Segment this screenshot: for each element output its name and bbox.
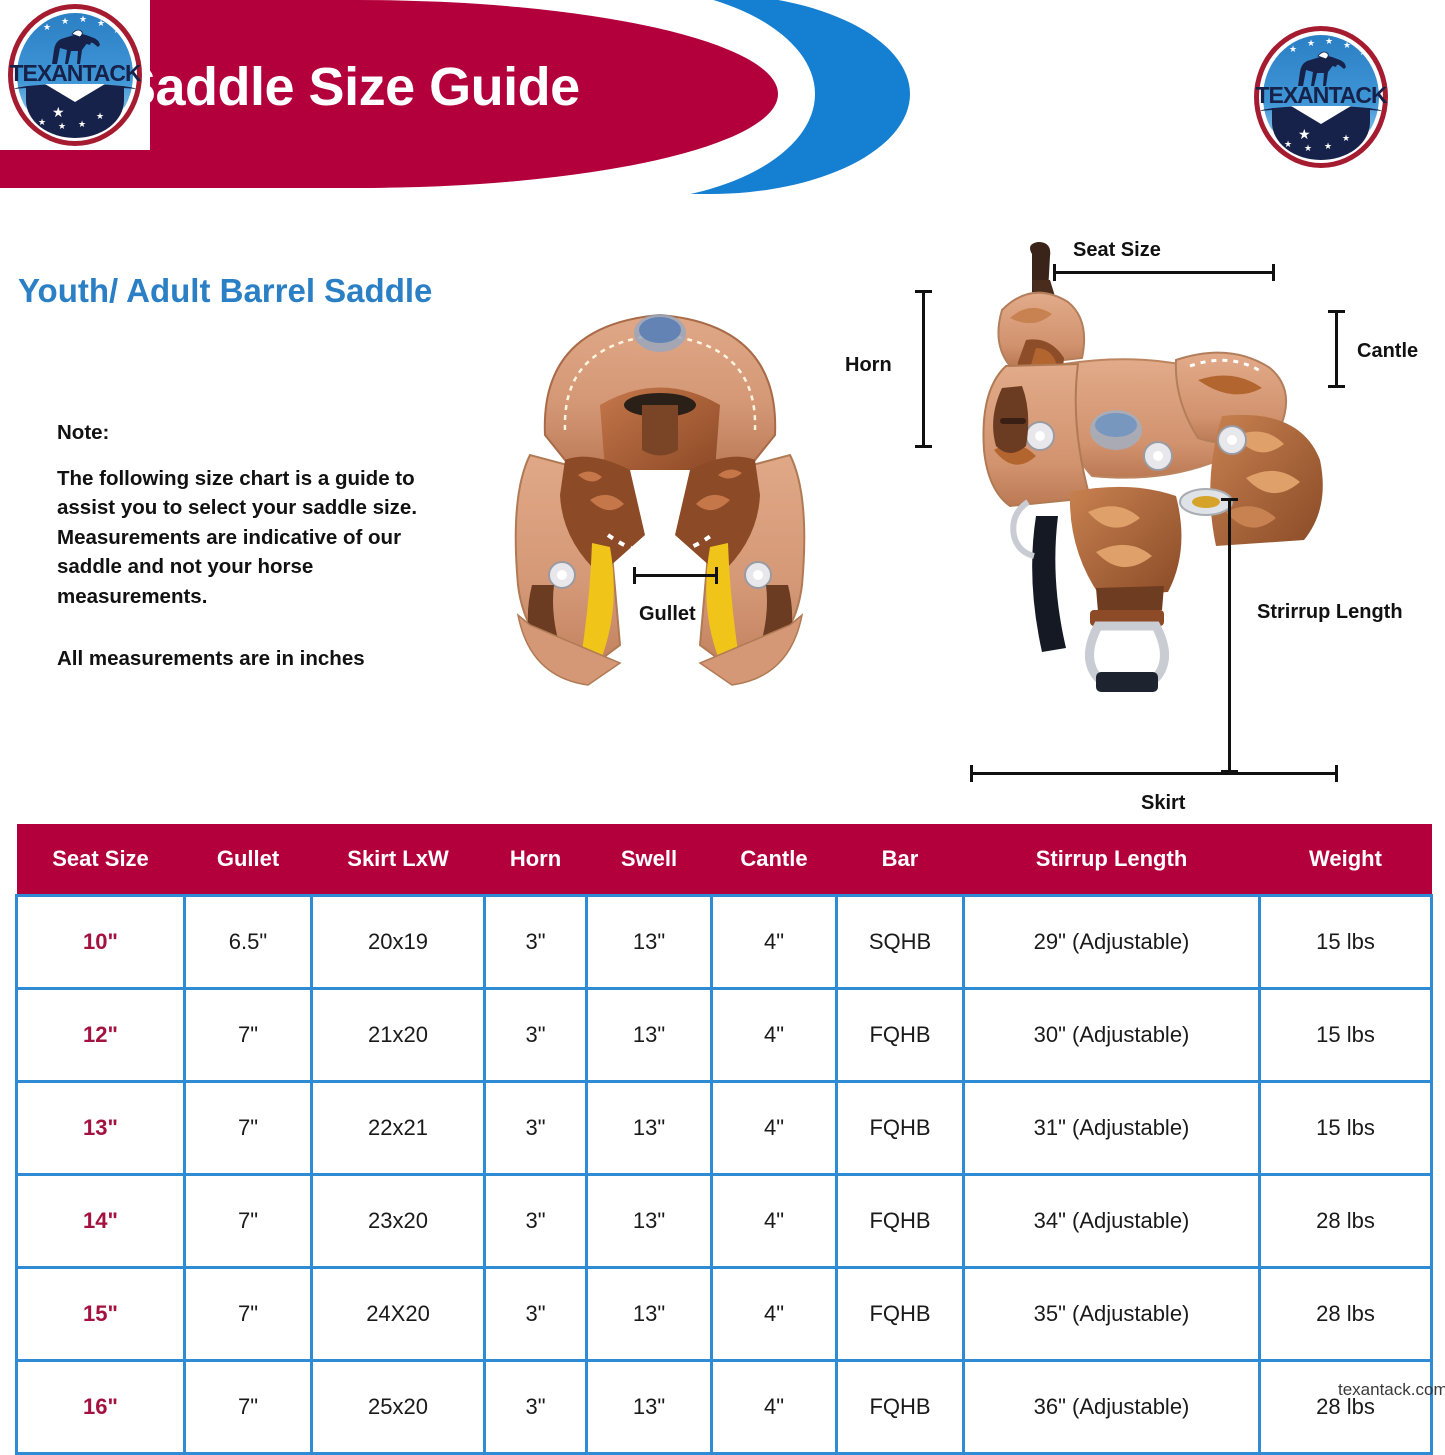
page-header: Saddle Size Guide (0, 0, 1445, 200)
cell-weight: 28 lbs (1260, 1268, 1432, 1361)
cell-skirt: 23x20 (312, 1175, 485, 1268)
cell-skirt: 24X20 (312, 1268, 485, 1361)
gullet-measure-line (633, 574, 718, 577)
cell-swell: 13" (587, 896, 712, 989)
column-header-swell: Swell (587, 824, 712, 896)
cell-swell: 13" (587, 1082, 712, 1175)
skirt-cap-right (1335, 765, 1338, 782)
cell-swell: 13" (587, 1175, 712, 1268)
column-header-horn: Horn (485, 824, 587, 896)
horn-cap-top (915, 290, 932, 293)
site-watermark: texantack.com (1338, 1380, 1445, 1400)
cell-weight: 15 lbs (1260, 1082, 1432, 1175)
note-label: Note: (57, 418, 447, 448)
size-chart-table: Seat Size Gullet Skirt LxW Horn Swell Ca… (15, 824, 1433, 1455)
cell-seat-size: 14" (17, 1175, 185, 1268)
cell-horn: 3" (485, 989, 587, 1082)
cell-bar: SQHB (837, 896, 964, 989)
cell-skirt: 21x20 (312, 989, 485, 1082)
cell-bar: FQHB (837, 1268, 964, 1361)
cell-stirrup: 36" (Adjustable) (964, 1361, 1260, 1454)
logo-wordmark: TEXANTACK (0, 60, 150, 87)
seat-size-measure-line (1053, 271, 1275, 274)
cantle-cap-top (1328, 310, 1345, 313)
cell-gullet: 7" (185, 1361, 312, 1454)
cell-skirt: 25x20 (312, 1361, 485, 1454)
cell-swell: 13" (587, 1268, 712, 1361)
cell-cantle: 4" (712, 1268, 837, 1361)
cell-stirrup: 34" (Adjustable) (964, 1175, 1260, 1268)
cell-bar: FQHB (837, 989, 964, 1082)
table-row: 16" 7" 25x20 3" 13" 4" FQHB 36" (Adjusta… (17, 1361, 1432, 1454)
cell-stirrup: 29" (Adjustable) (964, 896, 1260, 989)
cell-gullet: 7" (185, 1082, 312, 1175)
section-subtitle: Youth/ Adult Barrel Saddle (18, 272, 432, 310)
cell-horn: 3" (485, 896, 587, 989)
seat-size-cap-right (1272, 264, 1275, 281)
cell-seat-size: 15" (17, 1268, 185, 1361)
cell-gullet: 7" (185, 1175, 312, 1268)
cantle-measure-line (1335, 310, 1338, 388)
cell-stirrup: 31" (Adjustable) (964, 1082, 1260, 1175)
cell-weight: 15 lbs (1260, 989, 1432, 1082)
stirrup-measure-line (1228, 498, 1231, 773)
cell-cantle: 4" (712, 989, 837, 1082)
brand-logo-right: ★ ★ ★ ★ ★ TEXANTACK ★ ★ ★ ★ ★ (1246, 22, 1396, 172)
table-row: 13" 7" 22x21 3" 13" 4" FQHB 31" (Adjusta… (17, 1082, 1432, 1175)
gullet-measure-cap-right (715, 567, 718, 584)
cell-swell: 13" (587, 989, 712, 1082)
cell-cantle: 4" (712, 1082, 837, 1175)
table-row: 14" 7" 23x20 3" 13" 4" FQHB 34" (Adjusta… (17, 1175, 1432, 1268)
cell-seat-size: 13" (17, 1082, 185, 1175)
table-header-row: Seat Size Gullet Skirt LxW Horn Swell Ca… (17, 824, 1432, 896)
column-header-bar: Bar (837, 824, 964, 896)
gullet-measure-cap-left (633, 567, 636, 584)
cell-stirrup: 35" (Adjustable) (964, 1268, 1260, 1361)
column-header-cantle: Cantle (712, 824, 837, 896)
cantle-label: Cantle (1357, 340, 1418, 363)
cell-bar: FQHB (837, 1175, 964, 1268)
cell-gullet: 7" (185, 989, 312, 1082)
stirrup-length-label: Strirrup Length (1257, 601, 1403, 624)
horn-cap-bottom (915, 445, 932, 448)
cell-horn: 3" (485, 1268, 587, 1361)
cell-seat-size: 12" (17, 989, 185, 1082)
column-header-weight: Weight (1260, 824, 1432, 896)
table-row: 12" 7" 21x20 3" 13" 4" FQHB 30" (Adjusta… (17, 989, 1432, 1082)
cell-cantle: 4" (712, 1361, 837, 1454)
cell-horn: 3" (485, 1175, 587, 1268)
column-header-gullet: Gullet (185, 824, 312, 896)
note-block: Note: The following size chart is a guid… (57, 418, 447, 674)
gullet-label: Gullet (639, 603, 696, 626)
cantle-cap-bottom (1328, 385, 1345, 388)
column-header-seat-size: Seat Size (17, 824, 185, 896)
saddle-front-view-image (470, 285, 850, 695)
brand-logo-left: ★ ★ ★ ★ ★ TEXANTACK ★ ★ ★ ★ ★ (0, 0, 150, 150)
cell-seat-size: 10" (17, 896, 185, 989)
cell-gullet: 6.5" (185, 896, 312, 989)
cell-weight: 28 lbs (1260, 1361, 1432, 1454)
cell-horn: 3" (485, 1082, 587, 1175)
logo-wordmark: TEXANTACK (1246, 82, 1396, 109)
size-chart-table-wrapper: Seat Size Gullet Skirt LxW Horn Swell Ca… (15, 824, 1430, 1455)
note-body: The following size chart is a guide to a… (57, 464, 447, 612)
note-footer: All measurements are in inches (57, 644, 447, 674)
cell-skirt: 22x21 (312, 1082, 485, 1175)
table-row: 10" 6.5" 20x19 3" 13" 4" SQHB 29" (Adjus… (17, 896, 1432, 989)
cell-bar: FQHB (837, 1082, 964, 1175)
skirt-measure-line (970, 772, 1338, 775)
seat-size-label: Seat Size (1073, 239, 1161, 262)
page-title: Saddle Size Guide (120, 56, 580, 118)
skirt-label: Skirt (1141, 792, 1185, 815)
column-header-skirt: Skirt LxW (312, 824, 485, 896)
cell-cantle: 4" (712, 896, 837, 989)
cell-horn: 3" (485, 1361, 587, 1454)
seat-size-cap-left (1053, 264, 1056, 281)
horn-label: Horn (845, 354, 892, 377)
column-header-stirrup-length: Stirrup Length (964, 824, 1260, 896)
cell-cantle: 4" (712, 1175, 837, 1268)
cell-stirrup: 30" (Adjustable) (964, 989, 1260, 1082)
horn-measure-line (922, 290, 925, 448)
skirt-cap-left (970, 765, 973, 782)
cell-swell: 13" (587, 1361, 712, 1454)
cell-bar: FQHB (837, 1361, 964, 1454)
cell-weight: 28 lbs (1260, 1175, 1432, 1268)
saddle-side-view-image (940, 240, 1360, 780)
cell-gullet: 7" (185, 1268, 312, 1361)
cell-skirt: 20x19 (312, 896, 485, 989)
table-row: 15" 7" 24X20 3" 13" 4" FQHB 35" (Adjusta… (17, 1268, 1432, 1361)
cell-seat-size: 16" (17, 1361, 185, 1454)
cell-weight: 15 lbs (1260, 896, 1432, 989)
stirrup-cap-top (1221, 498, 1238, 501)
